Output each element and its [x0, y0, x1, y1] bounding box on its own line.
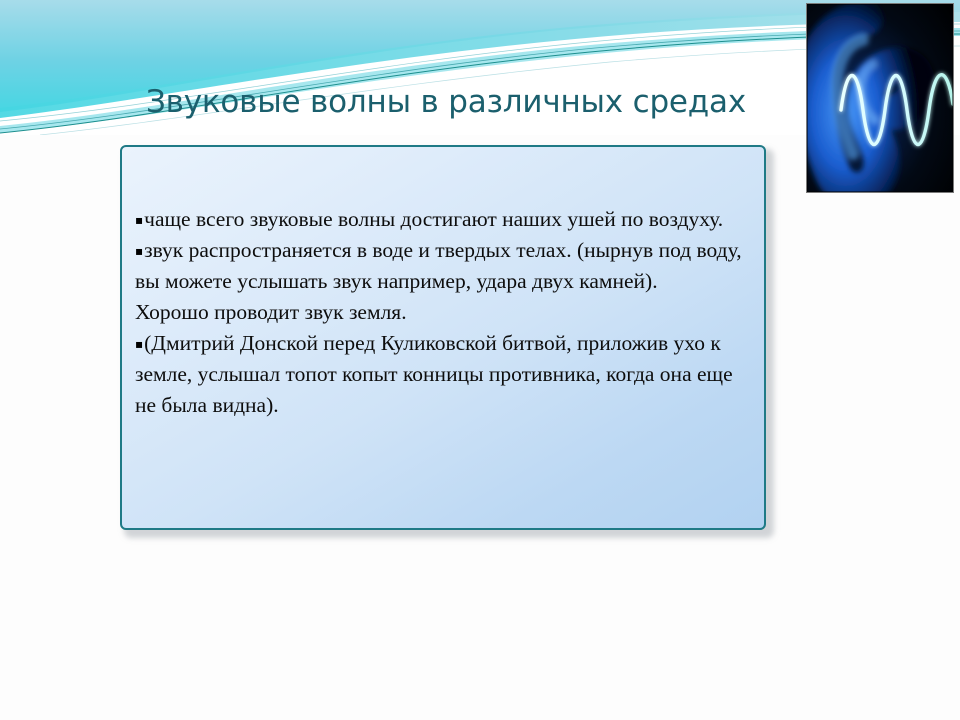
square-bullet-icon: ▪ — [135, 244, 143, 258]
list-item: Хорошо проводит звук земля. — [135, 297, 755, 328]
list-item-text: (Дмитрий Донской перед Куликовской битво… — [135, 331, 733, 417]
content-box: ▪чаще всего звуковые волны достигают наш… — [120, 145, 766, 530]
list-item: ▪(Дмитрий Донской перед Куликовской битв… — [135, 328, 755, 421]
presentation-slide: Звуковые волны в различных средах — [0, 0, 960, 720]
body-text-block: ▪чаще всего звуковые волны достигают наш… — [135, 204, 755, 421]
list-item-text: звук распространяется в воде и твердых т… — [135, 238, 742, 293]
ear-sound-wave-image — [807, 4, 953, 192]
square-bullet-icon: ▪ — [135, 337, 143, 351]
list-item-text: чаще всего звуковые волны достигают наши… — [144, 207, 723, 231]
square-bullet-icon: ▪ — [135, 213, 143, 227]
list-item-text: Хорошо проводит звук земля. — [135, 300, 407, 324]
list-item: ▪звук распространяется в воде и твердых … — [135, 235, 755, 297]
list-item: ▪чаще всего звуковые волны достигают наш… — [135, 204, 755, 235]
page-title: Звуковые волны в различных средах — [146, 83, 906, 121]
